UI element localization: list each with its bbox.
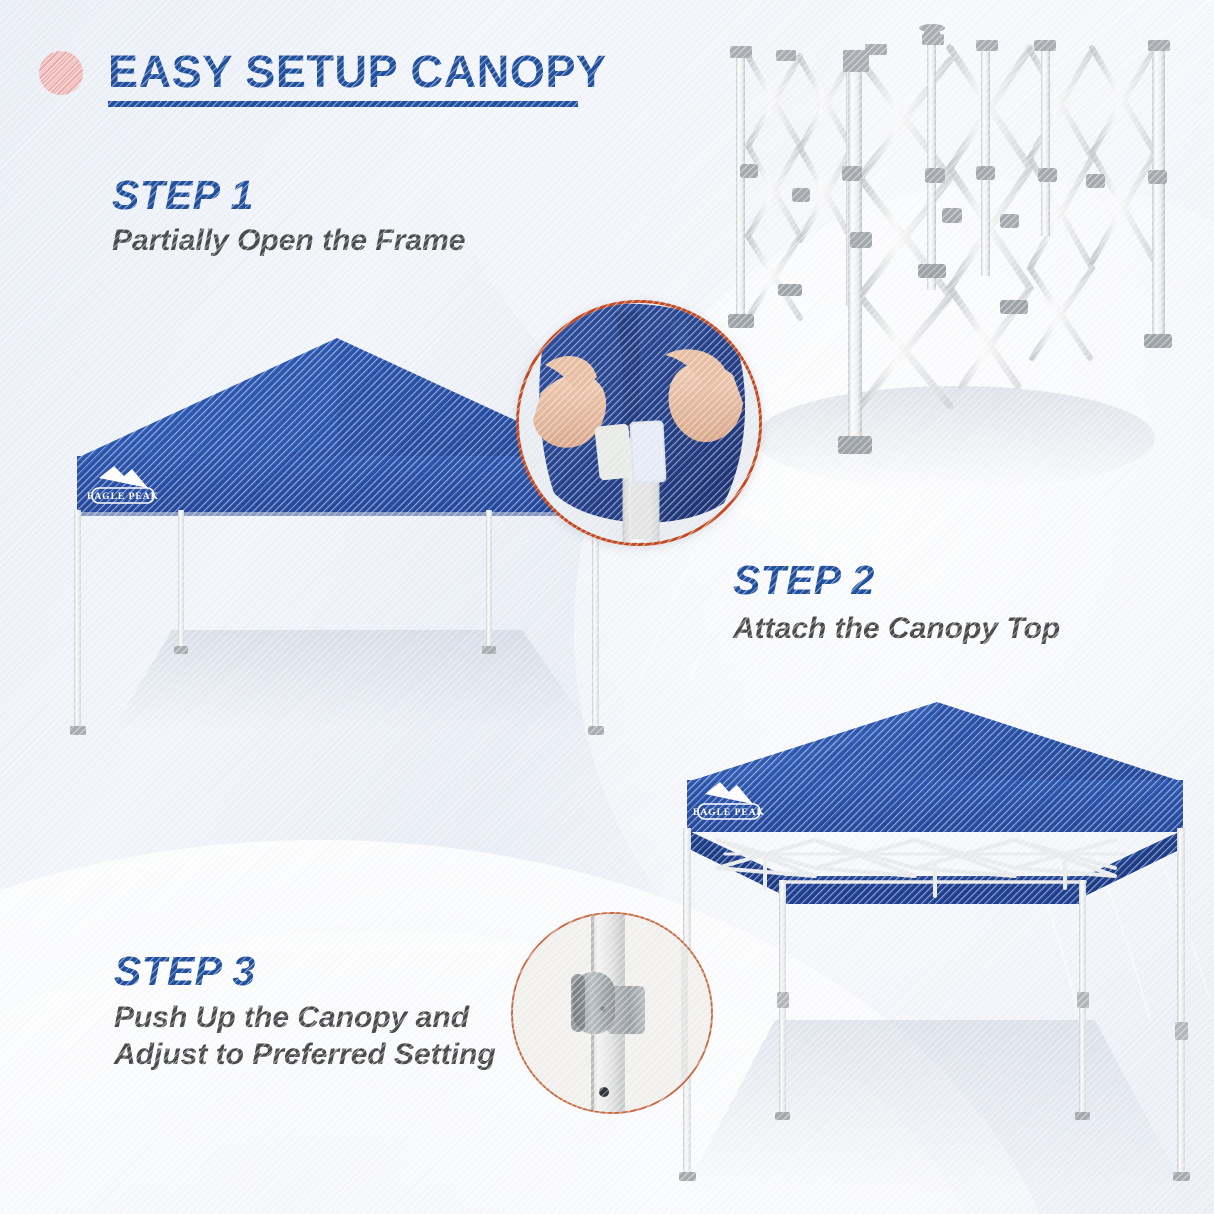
infographic-canvas: EAGLE PEAK <box>0 0 1214 1214</box>
step-3-subtitle: Push Up the Canopy and Adjust to Preferr… <box>114 1000 496 1073</box>
step-2-heading: STEP 2 <box>733 557 875 604</box>
svg-text:EAGLE PEAK: EAGLE PEAK <box>87 492 159 502</box>
full-canopy-illustration: EAGLE PEAK <box>665 690 1205 1200</box>
page-title: EASY SETUP CANOPY <box>108 46 607 98</box>
scissor-frame-illustration <box>700 18 1210 518</box>
title-underline <box>108 101 578 107</box>
step-1-subtitle: Partially Open the Frame <box>112 223 465 260</box>
step-3-subtitle-line-1: Push Up the Canopy and <box>114 1000 496 1037</box>
step-3-subtitle-line-2: Adjust to Preferred Setting <box>114 1037 496 1074</box>
step-2-subtitle: Attach the Canopy Top <box>733 611 1060 648</box>
accent-dot <box>39 51 83 95</box>
inset-velcro-attachment-photo <box>516 300 762 546</box>
step-1-heading: STEP 1 <box>112 172 254 219</box>
svg-text:EAGLE PEAK: EAGLE PEAK <box>693 808 765 818</box>
inset-height-lock-photo <box>511 912 713 1114</box>
step-3-heading: STEP 3 <box>114 948 256 995</box>
